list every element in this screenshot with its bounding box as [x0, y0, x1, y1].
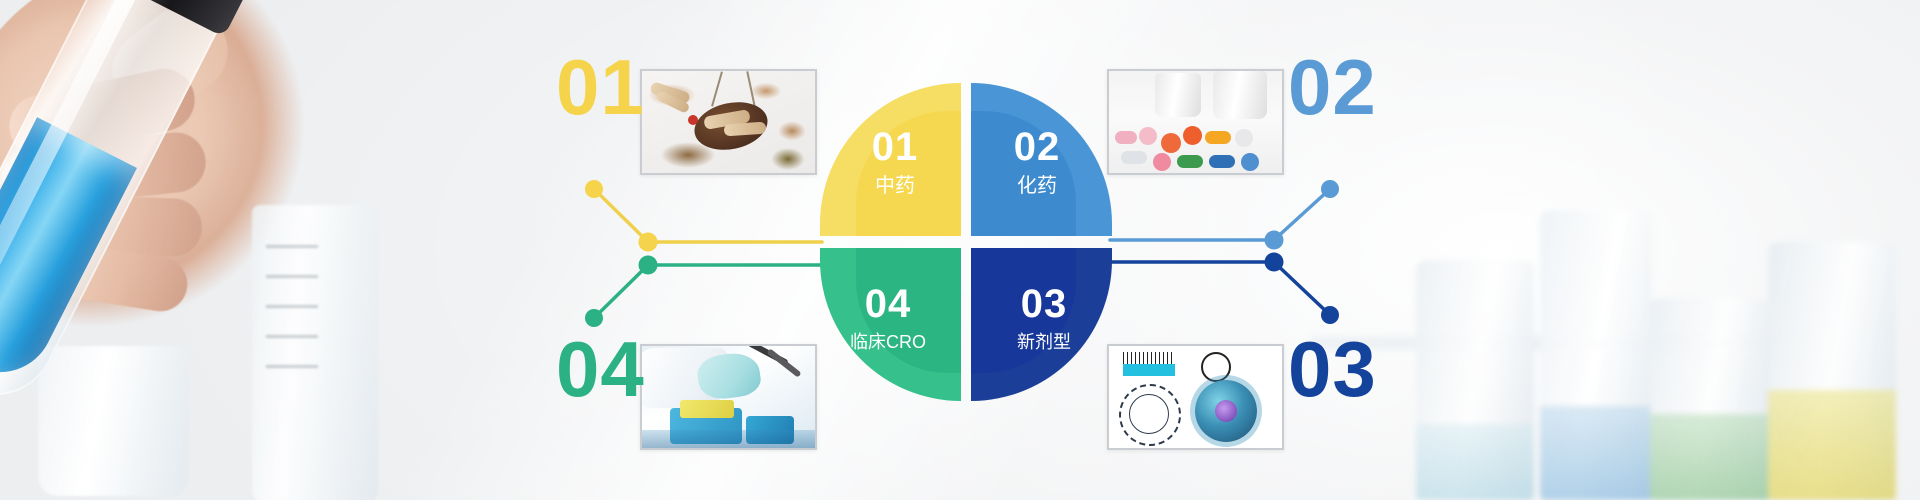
tcm-herbs-photo: [642, 71, 815, 173]
wheel-segment-02[interactable]: 02 化药: [971, 83, 1112, 236]
thumbnail-formulation-diagram[interactable]: [1107, 344, 1284, 450]
banner-stage: 01 中药 02 化药 04 临床CRO 03 新剂型: [0, 0, 1920, 500]
thumbnail-lab-pipetting[interactable]: [640, 344, 817, 450]
wheel-segment-03-number: 03: [985, 284, 1103, 324]
callout-number-03: 03: [1288, 330, 1377, 408]
thumbnail-pills[interactable]: [1107, 69, 1284, 175]
wheel-segment-02-label: 化药: [985, 176, 1089, 196]
wheel-segment-04-number: 04: [829, 284, 947, 324]
callout-number-01: 01: [556, 48, 645, 126]
callout-number-04: 04: [556, 330, 645, 408]
callout-number-02: 02: [1288, 48, 1377, 126]
wheel-segment-01[interactable]: 01 中药: [820, 83, 961, 236]
wheel-segment-04-label: 临床CRO: [829, 333, 947, 351]
segmented-wheel: 01 中药 02 化药 04 临床CRO 03 新剂型: [820, 83, 1112, 401]
drug-formulation-diagram: [1109, 346, 1282, 448]
wheel-segment-04-text: 04 临床CRO: [829, 284, 947, 351]
wheel-segment-03-text: 03 新剂型: [985, 284, 1103, 351]
wheel-segment-03-label: 新剂型: [985, 333, 1103, 351]
thumbnail-tcm-herbs[interactable]: [640, 69, 817, 175]
wheel-segment-01-text: 01 中药: [843, 127, 947, 196]
wheel-segment-04[interactable]: 04 临床CRO: [820, 248, 961, 401]
pill-bottle: [1155, 73, 1201, 117]
wheel-segment-02-text: 02 化药: [985, 127, 1089, 196]
wheel-segment-01-number: 01: [843, 127, 947, 167]
yellow-tips: [680, 400, 734, 418]
wheel-segment-03[interactable]: 03 新剂型: [971, 248, 1112, 401]
wheel-segment-01-label: 中药: [843, 176, 947, 196]
lab-pipetting-photo: [642, 346, 815, 448]
wheel-segment-02-number: 02: [985, 127, 1089, 167]
pill-bottle-lid: [1213, 69, 1267, 119]
liposome-sphere: [1195, 380, 1257, 442]
pills-and-bottle-photo: [1109, 71, 1282, 173]
